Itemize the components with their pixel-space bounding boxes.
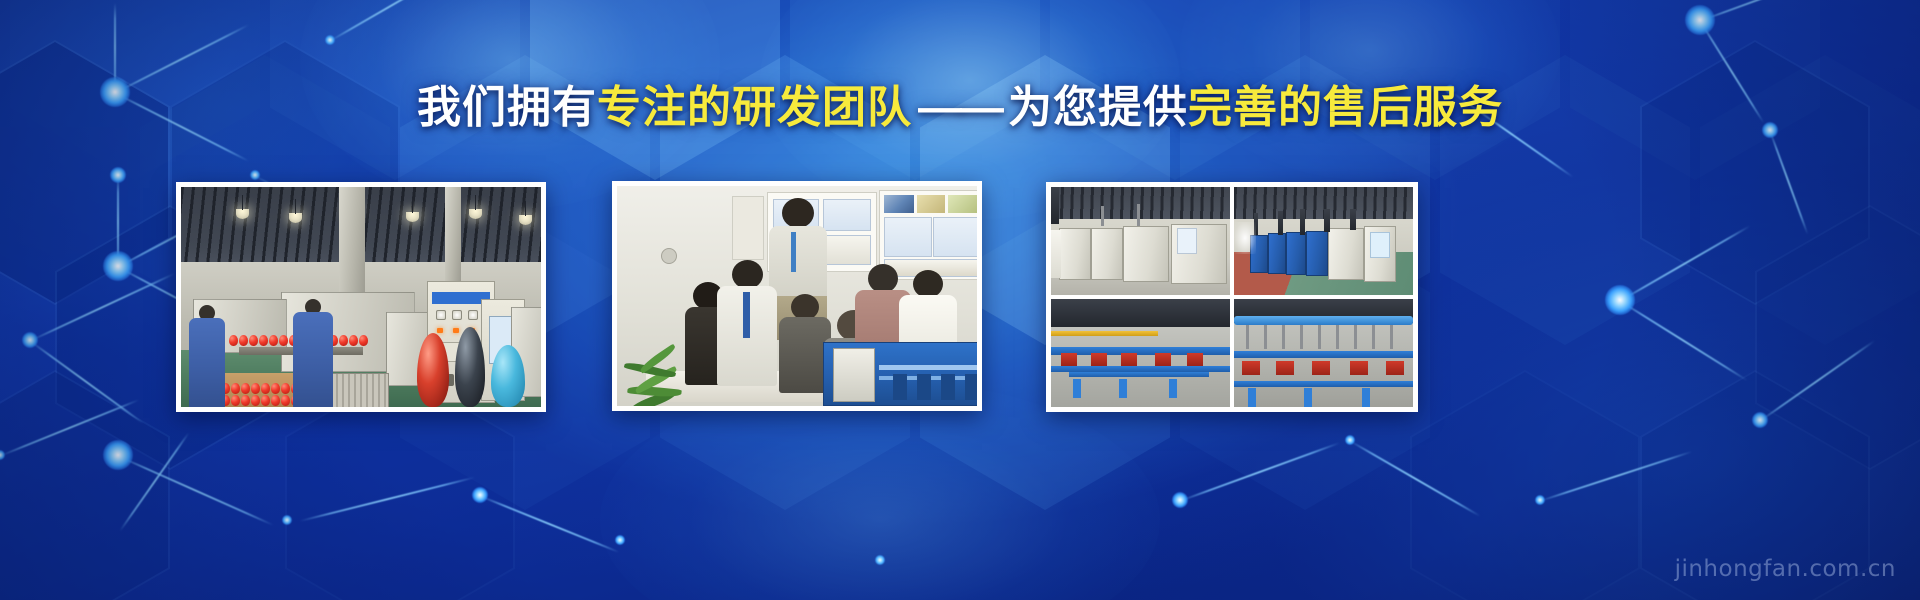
headline-segment-2: 专注的研发团队 (597, 83, 912, 132)
headline-dash: —— (912, 83, 1008, 132)
photo-team-meeting (612, 181, 982, 411)
photo-team-meeting-image (617, 186, 977, 406)
site-watermark: jinhongfan.com.cn (1675, 556, 1896, 582)
photo-factory-collage (1046, 182, 1418, 412)
collage-cell-4 (1234, 299, 1413, 407)
headline-segment-4: 完善的售后服务 (1188, 83, 1503, 132)
promo-banner: 我们拥有专注的研发团队——为您提供完善的售后服务 (0, 0, 1920, 600)
collage-cell-2 (1234, 187, 1413, 295)
photo-factory-line-image (181, 187, 541, 407)
headline-segment-1: 我们拥有 (417, 83, 597, 132)
photo-factory-collage-image (1051, 187, 1413, 407)
collage-cell-1 (1051, 187, 1230, 295)
headline-segment-3: 为您提供 (1008, 83, 1188, 132)
photo-factory-line (176, 182, 546, 412)
collage-cell-3 (1051, 299, 1230, 407)
page-title: 我们拥有专注的研发团队——为您提供完善的售后服务 (0, 82, 1920, 134)
